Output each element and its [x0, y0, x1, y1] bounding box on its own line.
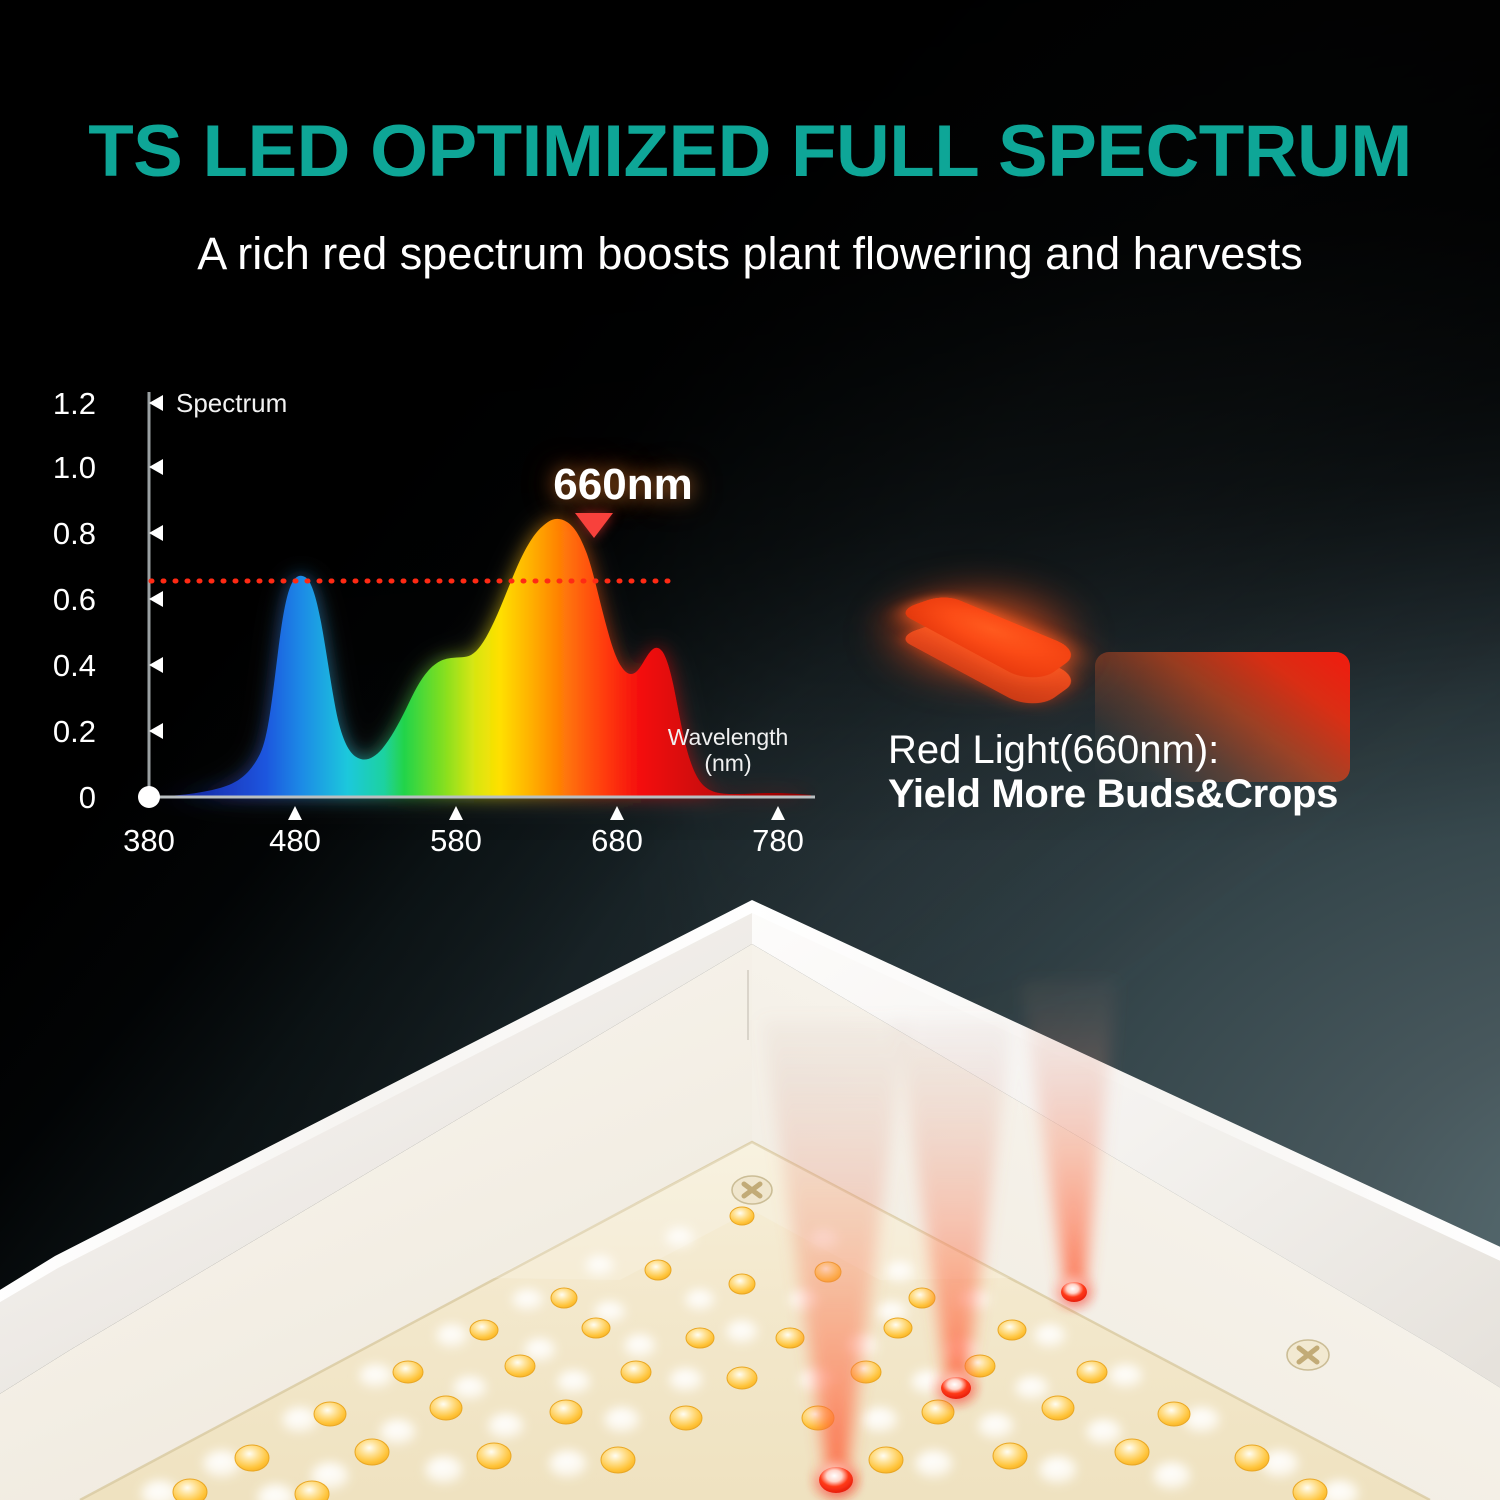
peak-annotation-arrow-icon: [575, 513, 613, 538]
y-tick-label-1-2: 1.2: [32, 388, 96, 419]
grow-light-panel-scene: [0, 880, 1500, 1500]
panel-svg: [0, 880, 1500, 1500]
red-led-1: [819, 1467, 853, 1493]
y-tick-label-0-4: 0.4: [32, 650, 96, 681]
red-led-3: [1061, 1282, 1087, 1302]
y-tick-label-0: 0: [32, 782, 96, 813]
x-axis-title-text: Wavelength: [668, 724, 789, 750]
x-tick-label-580: 580: [401, 825, 511, 856]
phillips-screw-icon: [732, 1176, 772, 1204]
spectrum-chart-svg: [80, 370, 840, 870]
page-title: TS LED OPTIMIZED FULL SPECTRUM: [0, 110, 1500, 193]
y-tick-label-0-2: 0.2: [32, 716, 96, 747]
y-axis-title: Spectrum: [176, 388, 287, 419]
x-tick-label-380: 380: [94, 825, 204, 856]
spectrum-chart: 1.2 1.0 0.8 0.6 0.4 0.2 0 380 480 580 68…: [80, 370, 840, 870]
origin-dot: [138, 786, 160, 808]
y-tick-label-0-8: 0.8: [32, 518, 96, 549]
x-tick-label-480: 480: [240, 825, 350, 856]
phillips-screw-icon: [1287, 1340, 1329, 1370]
y-tick-label-1-0: 1.0: [32, 452, 96, 483]
x-axis-ticks: [288, 806, 785, 820]
infographic-root: TS LED OPTIMIZED FULL SPECTRUM A rich re…: [0, 0, 1500, 1500]
callout-label-secondary: Yield More Buds&Crops: [888, 772, 1338, 817]
peak-annotation-660nm: 660nm: [498, 460, 748, 510]
y-axis-ticks: [149, 395, 163, 739]
page-subtitle: A rich red spectrum boosts plant floweri…: [0, 228, 1500, 280]
x-axis-title: Wavelength (nm): [653, 725, 803, 777]
red-light-callout: Red Light(660nm): Yield More Buds&Crops: [860, 560, 1420, 825]
red-led-2: [941, 1377, 971, 1399]
callout-label-primary: Red Light(660nm):: [888, 728, 1219, 773]
x-tick-label-780: 780: [723, 825, 833, 856]
x-tick-label-680: 680: [562, 825, 672, 856]
y-tick-label-0-6: 0.6: [32, 584, 96, 615]
x-axis-title-unit: (nm): [704, 750, 751, 776]
